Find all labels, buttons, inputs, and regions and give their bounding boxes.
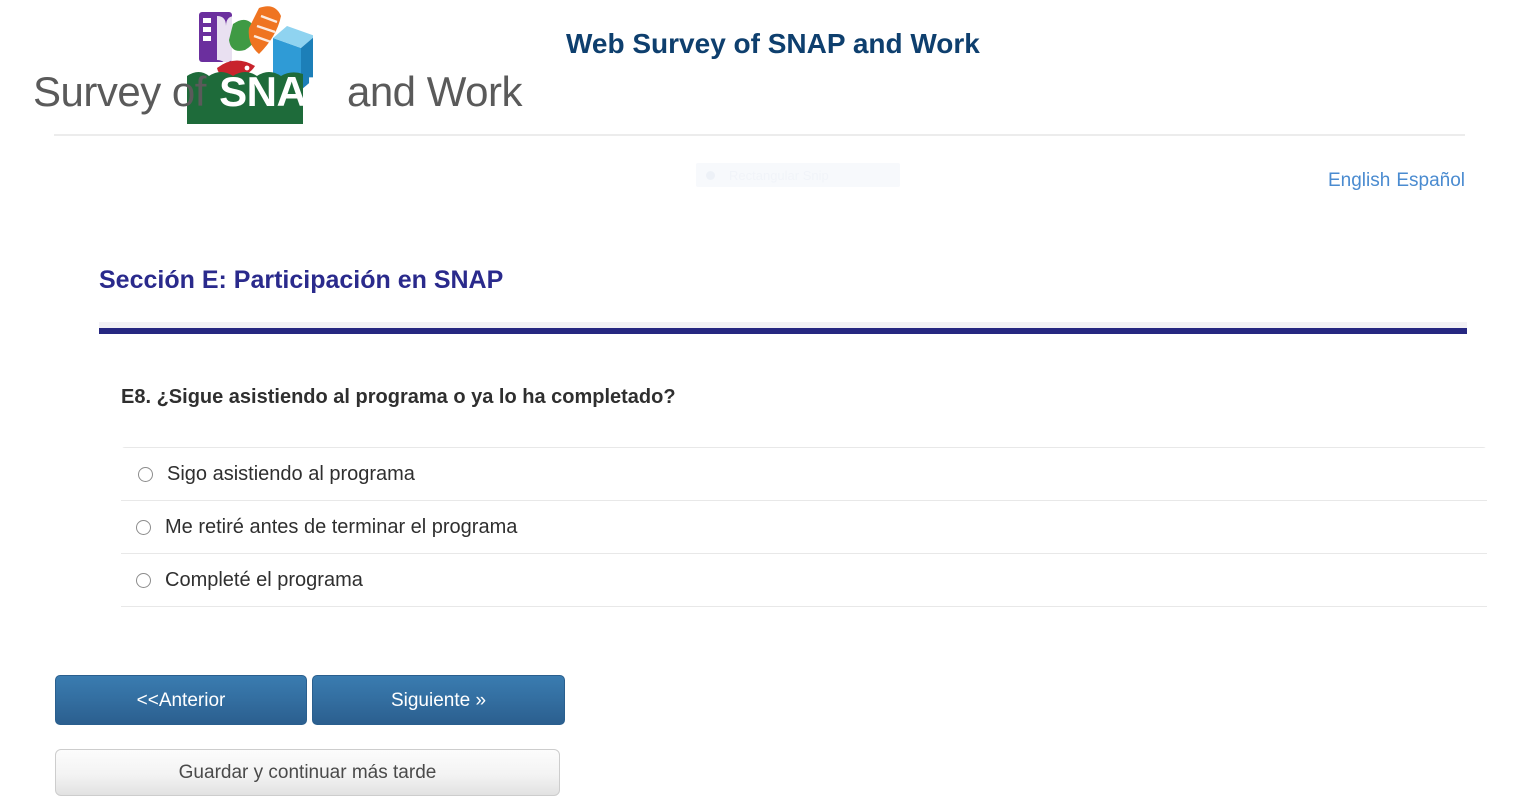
page-header: Survey of SNAP and Work Web Survey of SN… bbox=[0, 0, 1523, 136]
rectangular-snip-overlay: Rectangular Snip bbox=[696, 163, 900, 187]
radio-button-icon[interactable] bbox=[136, 573, 151, 588]
option-row[interactable]: Completé el programa bbox=[121, 554, 1487, 607]
option-row[interactable]: Sigo asistiendo al programa bbox=[121, 448, 1487, 501]
option-label: Sigo asistiendo al programa bbox=[167, 463, 415, 486]
logo-word-snap: SNAP bbox=[217, 68, 336, 115]
next-button[interactable]: Siguiente » bbox=[312, 675, 565, 725]
save-and-continue-later-button[interactable]: Guardar y continuar más tarde bbox=[55, 749, 560, 796]
navigation-buttons: <<AnteriorSiguiente » bbox=[55, 675, 565, 725]
page-title: Web Survey of SNAP and Work bbox=[566, 28, 980, 60]
logo-word-and-work: and Work bbox=[336, 68, 522, 115]
section-divider bbox=[99, 328, 1467, 334]
snip-bullet-icon bbox=[706, 171, 715, 180]
section-heading: Sección E: Participación en SNAP bbox=[99, 266, 503, 295]
option-row[interactable]: Me retiré antes de terminar el programa bbox=[121, 501, 1487, 554]
radio-button-icon[interactable] bbox=[136, 520, 151, 535]
language-link-spanish[interactable]: Español bbox=[1396, 170, 1465, 191]
snip-overlay-label: Rectangular Snip bbox=[729, 168, 829, 183]
language-link-english[interactable]: English bbox=[1328, 170, 1390, 191]
language-selector: EnglishEspañol bbox=[1328, 170, 1465, 192]
question-text: E8. ¿Sigue asistiendo al programa o ya l… bbox=[121, 386, 676, 409]
option-label: Me retiré antes de terminar el programa bbox=[165, 516, 517, 539]
option-label: Completé el programa bbox=[165, 569, 363, 592]
radio-button-icon[interactable] bbox=[138, 467, 153, 482]
previous-button[interactable]: <<Anterior bbox=[55, 675, 307, 725]
header-divider bbox=[54, 134, 1465, 136]
logo-wordmark: Survey of SNAP and Work bbox=[33, 62, 458, 122]
site-logo: Survey of SNAP and Work bbox=[33, 0, 458, 128]
logo-word-survey-of: Survey of bbox=[33, 68, 217, 115]
answer-options-list: Sigo asistiendo al programa Me retiré an… bbox=[121, 447, 1487, 607]
